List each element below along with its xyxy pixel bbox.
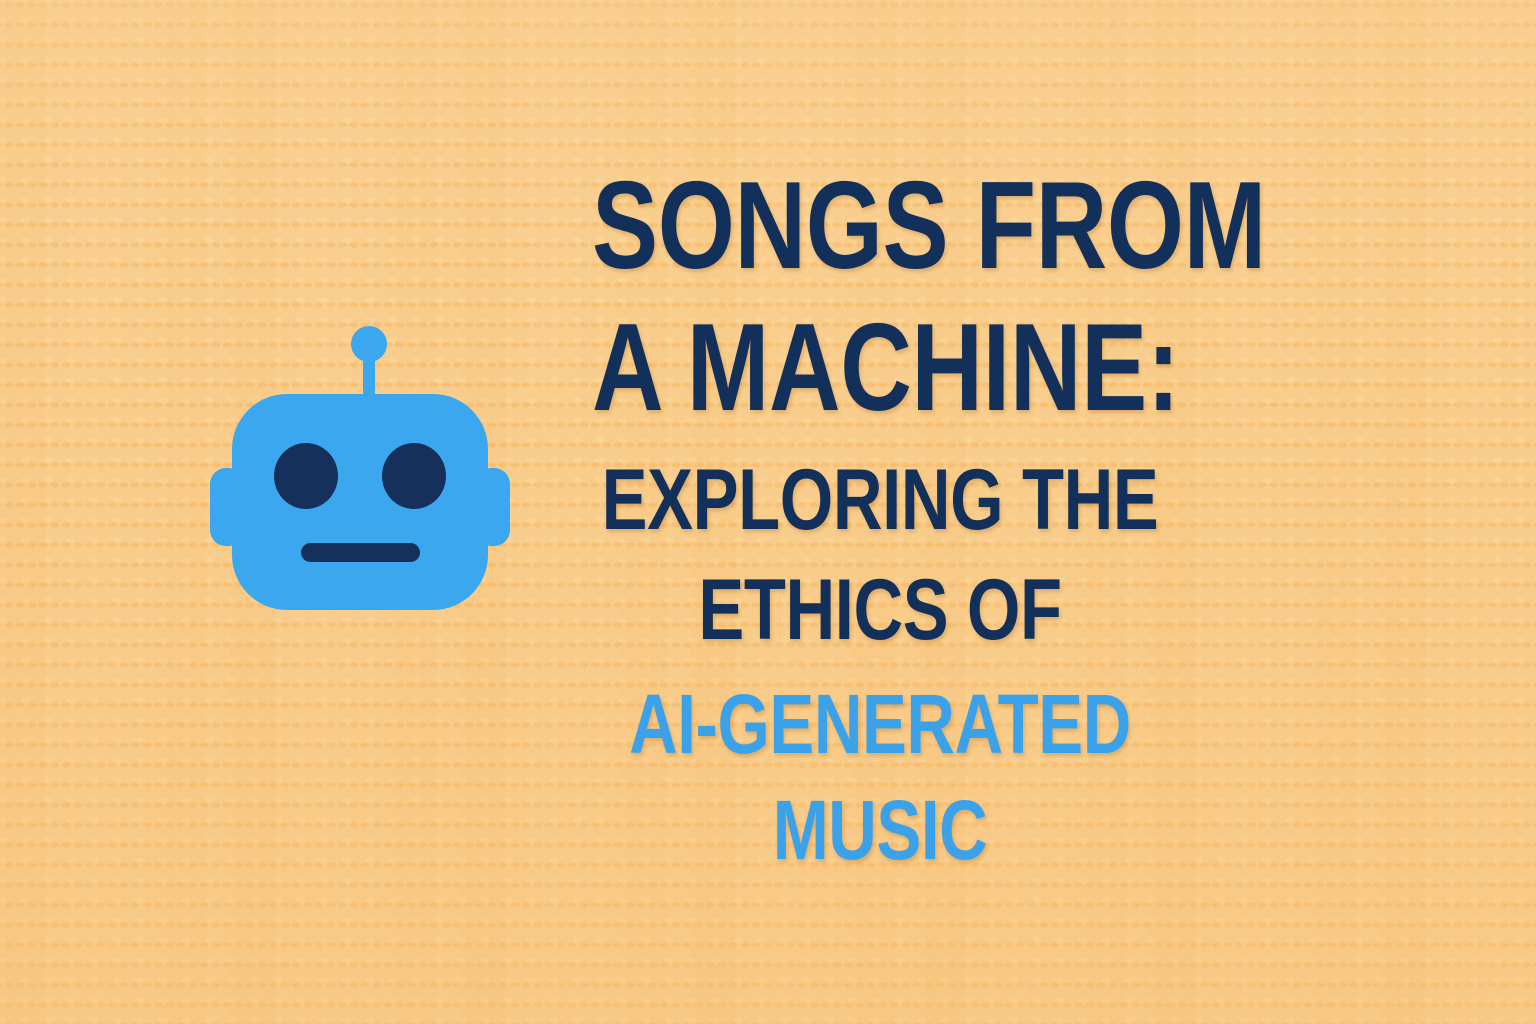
title-block: SONGS FROM A MACHINE: EXPLORING THE ETHI… [520, 160, 1240, 878]
title-line-6: MUSIC [592, 782, 1168, 878]
robot-mouth-icon [301, 543, 420, 562]
poster-canvas: SONGS FROM A MACHINE: EXPLORING THE ETHI… [0, 0, 1536, 1024]
title-gap-4 [520, 660, 1240, 676]
antenna-ball-icon [351, 326, 387, 362]
title-line-1: SONGS FROM [592, 160, 1168, 292]
title-line-3: EXPLORING THE [592, 450, 1168, 550]
robot-head-icon [210, 318, 510, 618]
robot-head-shape [232, 394, 488, 610]
title-line-2: A MACHINE: [592, 302, 1168, 434]
title-gap-3 [520, 550, 1240, 560]
title-gap-5 [520, 772, 1240, 782]
title-line-5: AI-GENERATED [592, 676, 1168, 772]
robot-right-eye-icon [382, 443, 446, 509]
robot-left-eye-icon [274, 443, 338, 509]
title-line-4: ETHICS OF [592, 560, 1168, 660]
